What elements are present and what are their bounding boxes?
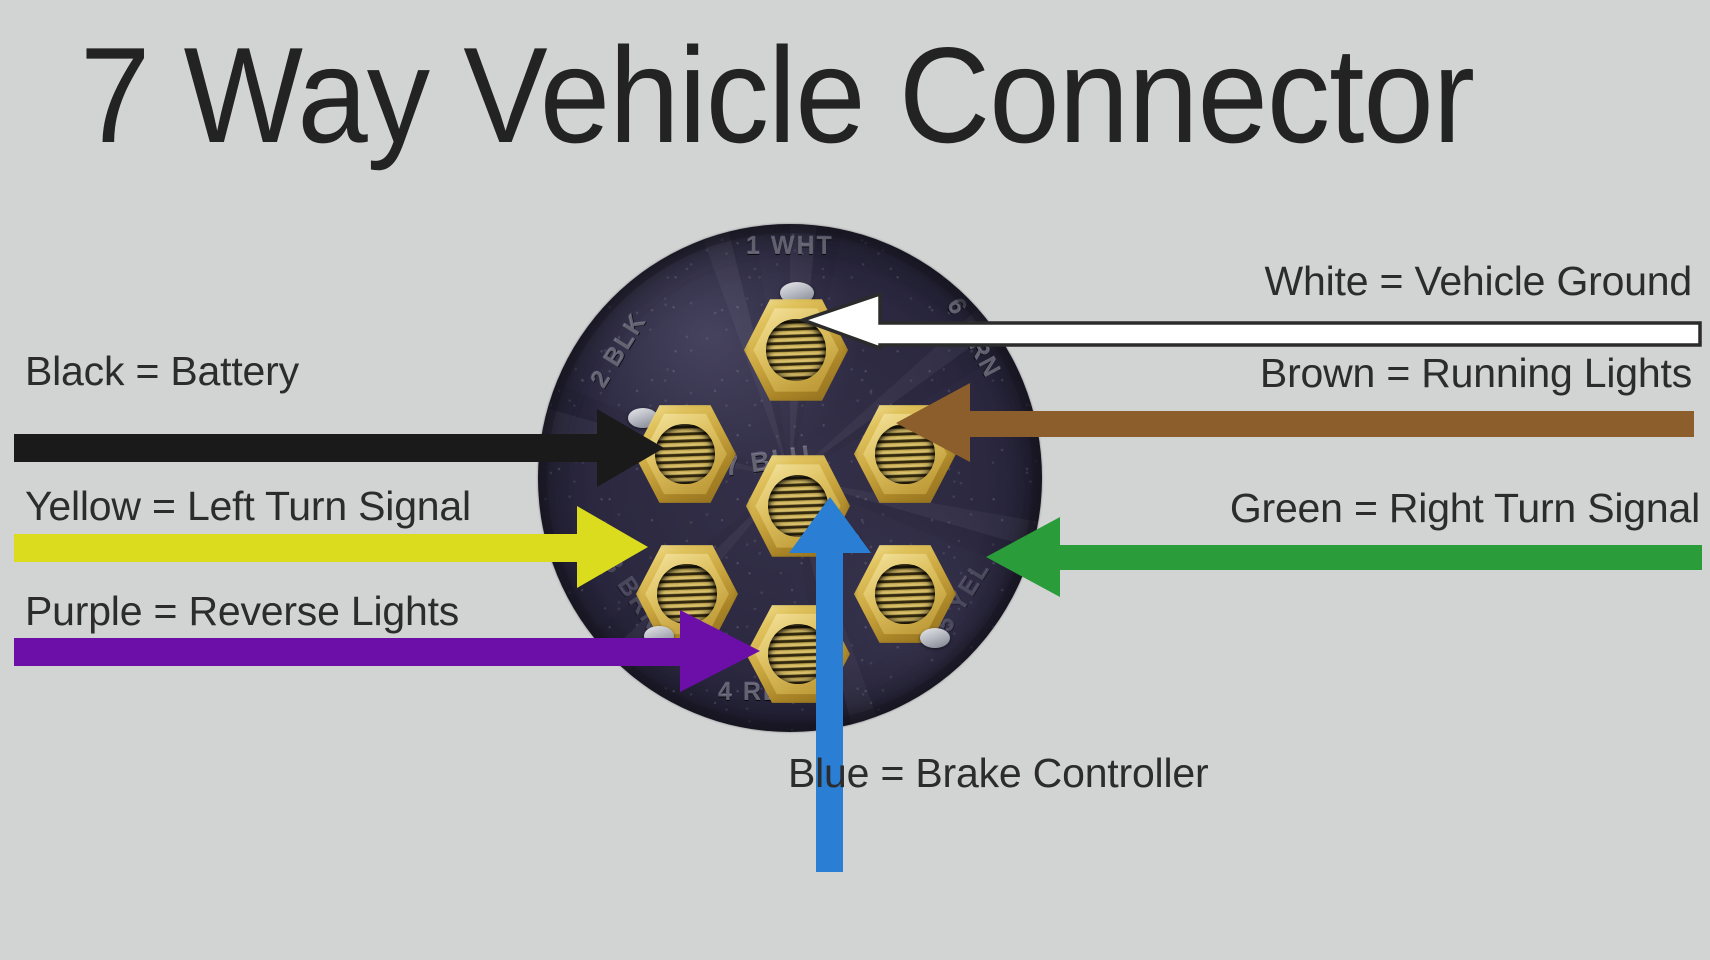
connector-photo: 1 WHT 2 BLK 7 BLU 6 GRN 4 RED 3 BRN 5 YE… [510, 218, 1070, 738]
legend-label-yellow: Yellow = Left Turn Signal [25, 482, 471, 530]
legend-label-green: Green = Right Turn Signal [1230, 484, 1700, 532]
connector-rim [538, 224, 1042, 732]
legend-label-blue: Blue = Brake Controller [788, 749, 1208, 797]
legend-label-purple: Purple = Reverse Lights [25, 587, 459, 635]
legend-label-black: Black = Battery [25, 347, 299, 395]
legend-label-brown: Brown = Running Lights [1260, 349, 1692, 397]
diagram-canvas: 7 Way Vehicle Connector 1 WHT 2 BLK 7 BL… [0, 0, 1710, 960]
legend-label-white: White = Vehicle Ground [1265, 257, 1692, 305]
page-title: 7 Way Vehicle Connector [80, 20, 1531, 170]
connector-body: 1 WHT 2 BLK 7 BLU 6 GRN 4 RED 3 BRN 5 YE… [538, 224, 1042, 732]
